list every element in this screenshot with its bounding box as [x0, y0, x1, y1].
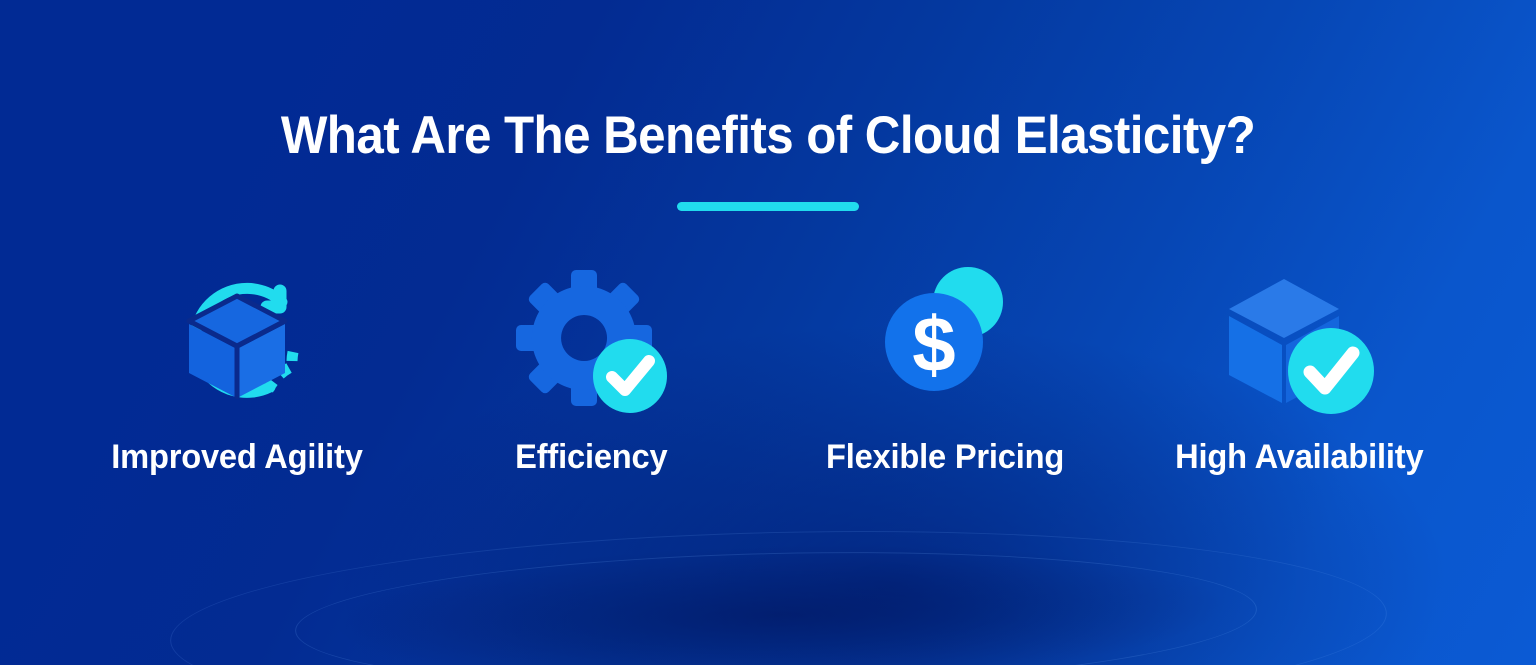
infographic-canvas: What Are The Benefits of Cloud Elasticit…	[0, 0, 1536, 665]
rotating-cube-icon	[152, 255, 322, 420]
benefits-row: Improved Agility	[60, 255, 1476, 478]
svg-text:$: $	[912, 300, 955, 388]
gear-check-icon	[506, 255, 676, 420]
benefit-label: Improved Agility	[111, 436, 362, 478]
benefit-label: Flexible Pricing	[826, 436, 1064, 478]
benefit-item-efficiency: Efficiency	[414, 255, 768, 478]
benefit-item-flexible-pricing: $ Flexible Pricing	[768, 255, 1122, 478]
title-divider	[677, 202, 859, 211]
background-ellipse-shade	[329, 535, 1232, 665]
dollar-coin-icon: $	[860, 255, 1030, 420]
benefit-label: Efficiency	[515, 436, 667, 478]
benefit-item-improved-agility: Improved Agility	[60, 255, 414, 478]
page-title: What Are The Benefits of Cloud Elasticit…	[54, 101, 1482, 171]
background-ring-inner	[294, 542, 1259, 665]
cube-check-icon	[1214, 255, 1384, 420]
benefit-item-high-availability: High Availability	[1122, 255, 1476, 478]
background-ring-outer	[168, 518, 1389, 665]
benefit-label: High Availability	[1175, 436, 1423, 478]
